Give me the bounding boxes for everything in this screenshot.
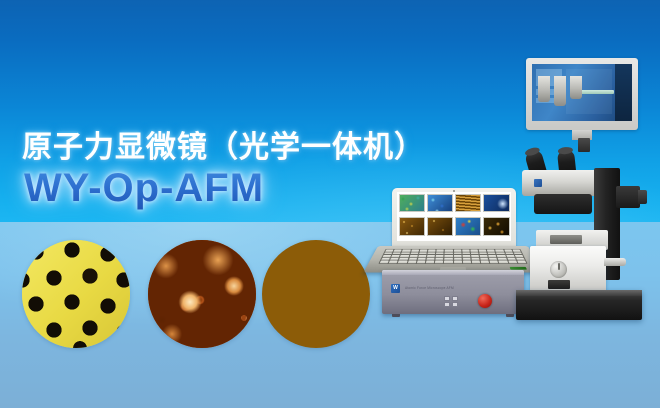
keyboard-key[interactable]: [401, 252, 409, 254]
brand-logo-icon: W: [391, 284, 400, 293]
objective-lens: [538, 76, 550, 102]
afm-sample-image-spiral-growth: [148, 240, 256, 348]
keyboard-key[interactable]: [436, 250, 444, 252]
scan-thumbnail-image: [427, 194, 454, 212]
scan-thumbnail-caption: [427, 212, 454, 216]
keyboard-key[interactable]: [470, 250, 478, 252]
power-knob[interactable]: [478, 294, 492, 308]
keyboard-key[interactable]: [427, 252, 435, 254]
keyboard-key[interactable]: [427, 255, 435, 257]
keyboard-key[interactable]: [394, 250, 402, 252]
keyboard-key[interactable]: [490, 261, 499, 263]
keyboard-key[interactable]: [410, 252, 418, 254]
product-model-title: WY-Op-AFM: [24, 166, 264, 211]
keyboard-key[interactable]: [385, 250, 393, 252]
keyboard-key[interactable]: [383, 255, 392, 257]
afm-stage-housing: [530, 246, 606, 294]
keyboard-key[interactable]: [445, 252, 453, 254]
illuminator-cap: [638, 190, 647, 204]
keyboard-key[interactable]: [399, 258, 408, 260]
objective-turret[interactable]: [534, 194, 592, 214]
keyboard-key[interactable]: [409, 255, 417, 257]
scan-thumb-4[interactable]: [483, 194, 510, 216]
controller-label: Atomic Force Microscope AFM: [405, 286, 454, 290]
keyboard-key[interactable]: [392, 255, 401, 257]
port-connector[interactable]: [452, 296, 458, 301]
port-connector[interactable]: [444, 296, 450, 301]
optical-afm-microscope: [508, 58, 660, 348]
keyboard-key[interactable]: [402, 250, 410, 252]
keyboard-key[interactable]: [445, 258, 453, 260]
scan-thumbnail-caption: [399, 236, 426, 240]
afm-controller-unit: W Atomic Force Microscope AFM: [382, 270, 524, 314]
cantilever-indicator: [580, 90, 614, 94]
keyboard-row: [383, 255, 524, 257]
granite-top-surface: [516, 290, 642, 296]
keyboard-row: [381, 258, 525, 260]
scan-thumb-1[interactable]: [399, 194, 426, 216]
port-connector[interactable]: [444, 302, 450, 307]
keyboard-key[interactable]: [454, 252, 462, 254]
scan-thumb-5[interactable]: [399, 217, 426, 239]
laptop-keyboard[interactable]: [378, 249, 528, 264]
keyboard-key[interactable]: [417, 258, 425, 260]
scan-thumbnail-caption: [455, 236, 482, 240]
illuminator-housing: [616, 186, 640, 208]
granite-base: [516, 290, 642, 320]
scan-thumbnail-image: [455, 217, 482, 235]
keyboard-key[interactable]: [445, 250, 452, 252]
product-banner: 原子力显微镜（光学一体机） WY-Op-AFM W Atomic Force M…: [0, 0, 660, 408]
eyecup: [524, 146, 540, 157]
keyboard-key[interactable]: [445, 255, 453, 257]
keyboard-key[interactable]: [497, 255, 505, 257]
keyboard-key[interactable]: [400, 255, 408, 257]
objective-lens: [554, 76, 566, 106]
keyboard-key[interactable]: [471, 255, 479, 257]
coarse-adjustment-knob[interactable]: [604, 258, 626, 266]
keyboard-key[interactable]: [428, 250, 436, 252]
laptop-and-controller: W Atomic Force Microscope AFM: [378, 188, 528, 314]
keyboard-key[interactable]: [454, 261, 462, 263]
page-title: 原子力显微镜（光学一体机）: [22, 122, 425, 166]
scan-thumbnail-image: [483, 217, 510, 235]
keyboard-key[interactable]: [454, 258, 462, 260]
keyboard-key[interactable]: [471, 258, 479, 260]
keyboard-key[interactable]: [411, 250, 419, 252]
objective-lens: [570, 76, 582, 99]
laptop-screen: [397, 192, 511, 241]
keyboard-key[interactable]: [454, 255, 462, 257]
scan-thumbnail-caption: [455, 212, 482, 216]
keyboard-key[interactable]: [472, 261, 480, 263]
scan-thumb-3[interactable]: [455, 194, 482, 216]
keyboard-row: [385, 250, 520, 252]
keyboard-key[interactable]: [479, 252, 487, 254]
keyboard-key[interactable]: [480, 258, 488, 260]
scan-thumbnail-image: [399, 217, 426, 235]
scan-thumb-7[interactable]: [455, 217, 482, 239]
keyboard-key[interactable]: [487, 250, 495, 252]
scan-thumbnail-caption: [483, 236, 510, 240]
afm-sample-image-granular-surface: [262, 240, 370, 348]
keyboard-key[interactable]: [435, 261, 443, 263]
keyboard-key[interactable]: [454, 250, 461, 252]
keyboard-key[interactable]: [463, 261, 471, 263]
controller-port-panel[interactable]: [444, 296, 458, 307]
keyboard-key[interactable]: [393, 252, 401, 254]
laptop-lid: [392, 188, 516, 250]
keyboard-key[interactable]: [471, 252, 479, 254]
sample-slot: [550, 235, 582, 244]
scan-thumb-8[interactable]: [483, 217, 510, 239]
eyecup: [558, 146, 574, 155]
keyboard-key[interactable]: [390, 258, 399, 260]
keyboard-key[interactable]: [444, 261, 452, 263]
keyboard-key[interactable]: [462, 250, 470, 252]
keyboard-key[interactable]: [496, 252, 504, 254]
scan-thumb-2[interactable]: [427, 194, 454, 216]
brand-logo-icon: [534, 179, 542, 187]
keyboard-key[interactable]: [436, 255, 444, 257]
scan-thumbnail-image: [455, 194, 482, 212]
controller-foot: [392, 314, 400, 317]
keyboard-key[interactable]: [488, 255, 496, 257]
keyboard-key[interactable]: [389, 261, 398, 263]
keyboard-key[interactable]: [480, 255, 488, 257]
scan-thumbnail-image: [483, 194, 510, 212]
port-connector[interactable]: [452, 302, 458, 307]
keyboard-key[interactable]: [384, 252, 392, 254]
keyboard-key[interactable]: [499, 261, 508, 263]
keyboard-key[interactable]: [489, 258, 497, 260]
keyboard-key[interactable]: [426, 258, 434, 260]
controller-top-edge: [382, 270, 524, 275]
keyboard-row: [380, 261, 527, 263]
keyboard-key[interactable]: [435, 258, 443, 260]
scan-thumbnail-image: [427, 217, 454, 235]
stage-plate: [548, 280, 570, 289]
keyboard-key[interactable]: [380, 261, 389, 263]
keyboard-key[interactable]: [419, 250, 427, 252]
keyboard-key[interactable]: [381, 258, 390, 260]
focus-dial[interactable]: [550, 261, 567, 278]
keyboard-key[interactable]: [417, 261, 426, 263]
keyboard-key[interactable]: [407, 261, 416, 263]
keyboard-key[interactable]: [498, 258, 507, 260]
keyboard-key[interactable]: [479, 250, 487, 252]
scan-thumbnail-caption: [483, 212, 510, 216]
keyboard-key[interactable]: [462, 258, 470, 260]
keyboard-key[interactable]: [426, 261, 434, 263]
keyboard-key[interactable]: [418, 255, 426, 257]
keyboard-key[interactable]: [496, 250, 504, 252]
keyboard-key[interactable]: [398, 261, 407, 263]
scan-thumbnail-image: [399, 194, 426, 212]
afm-sample-texture: [262, 240, 370, 348]
scan-thumbnail-caption: [427, 236, 454, 240]
keyboard-key[interactable]: [419, 252, 427, 254]
software-sidebar: [615, 64, 632, 121]
keyboard-key[interactable]: [462, 252, 470, 254]
keyboard-row: [384, 252, 522, 254]
keyboard-key[interactable]: [488, 252, 496, 254]
keyboard-key[interactable]: [408, 258, 416, 260]
afm-sample-texture: [22, 240, 130, 348]
afm-sample-image-nanopore-array: [22, 240, 130, 348]
keyboard-key[interactable]: [436, 252, 444, 254]
afm-sample-texture: [148, 240, 256, 348]
keyboard-key[interactable]: [462, 255, 470, 257]
scan-thumbnail-caption: [399, 212, 426, 216]
keyboard-key[interactable]: [481, 261, 490, 263]
scan-thumb-6[interactable]: [427, 217, 454, 239]
